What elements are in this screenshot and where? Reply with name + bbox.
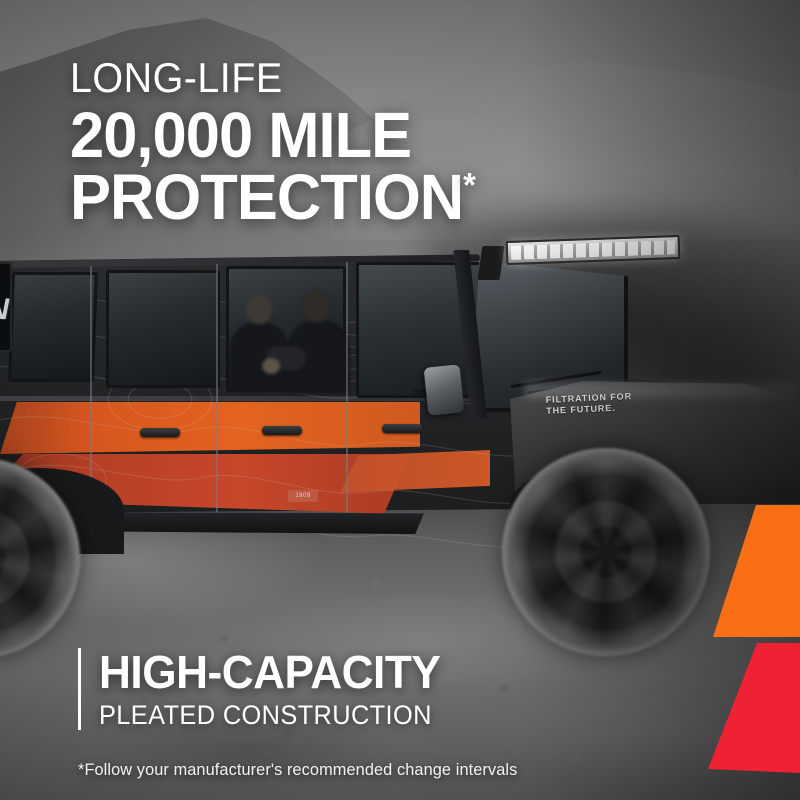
subhead-block: HIGH-CAPACITY PLEATED CONSTRUCTION bbox=[78, 648, 719, 730]
driver-hand bbox=[262, 358, 280, 374]
passenger-head bbox=[246, 294, 272, 324]
vehicle-window-rear bbox=[106, 270, 220, 388]
brand-shape-orange bbox=[700, 505, 800, 637]
advertisement-canvas: FILTRATION FOR THE FUTURE. 1909 K&N bbox=[0, 0, 800, 800]
headline-line-2: PROTECTION bbox=[70, 161, 463, 233]
headline-asterisk: * bbox=[463, 167, 475, 205]
door-handle-front bbox=[382, 424, 422, 433]
headline-kicker: LONG-LIFE bbox=[70, 56, 653, 100]
door-handle-rear bbox=[140, 428, 180, 437]
headline-main: 20,000 MILE PROTECTION* bbox=[70, 104, 665, 228]
subhead-subtitle: PLEATED CONSTRUCTION bbox=[99, 700, 682, 730]
kn-logo-wordmark: K&N bbox=[0, 290, 10, 324]
door-graphic-orange bbox=[0, 402, 420, 454]
vehicle-suv: FILTRATION FOR THE FUTURE. 1909 K&N bbox=[0, 250, 800, 670]
footnote-disclaimer: *Follow your manufacturer's recommended … bbox=[78, 760, 517, 780]
door-seam-front bbox=[346, 262, 348, 518]
roof-light-bar bbox=[506, 235, 681, 265]
vehicle-window-rear-quarter bbox=[8, 272, 98, 382]
subhead-title: HIGH-CAPACITY bbox=[99, 648, 694, 696]
side-mirror bbox=[424, 364, 465, 416]
wheel-front-motion-blur bbox=[512, 458, 700, 646]
body-badge: 1909 bbox=[288, 490, 318, 502]
door-handle-mid bbox=[262, 426, 302, 435]
driver-head bbox=[302, 290, 330, 322]
kn-logo-decal: K&N bbox=[0, 262, 12, 352]
headline-block: LONG-LIFE 20,000 MILE PROTECTION* bbox=[70, 56, 690, 228]
door-seam-mid bbox=[216, 264, 218, 518]
hood-decal-text: FILTRATION FOR THE FUTURE. bbox=[546, 391, 633, 417]
